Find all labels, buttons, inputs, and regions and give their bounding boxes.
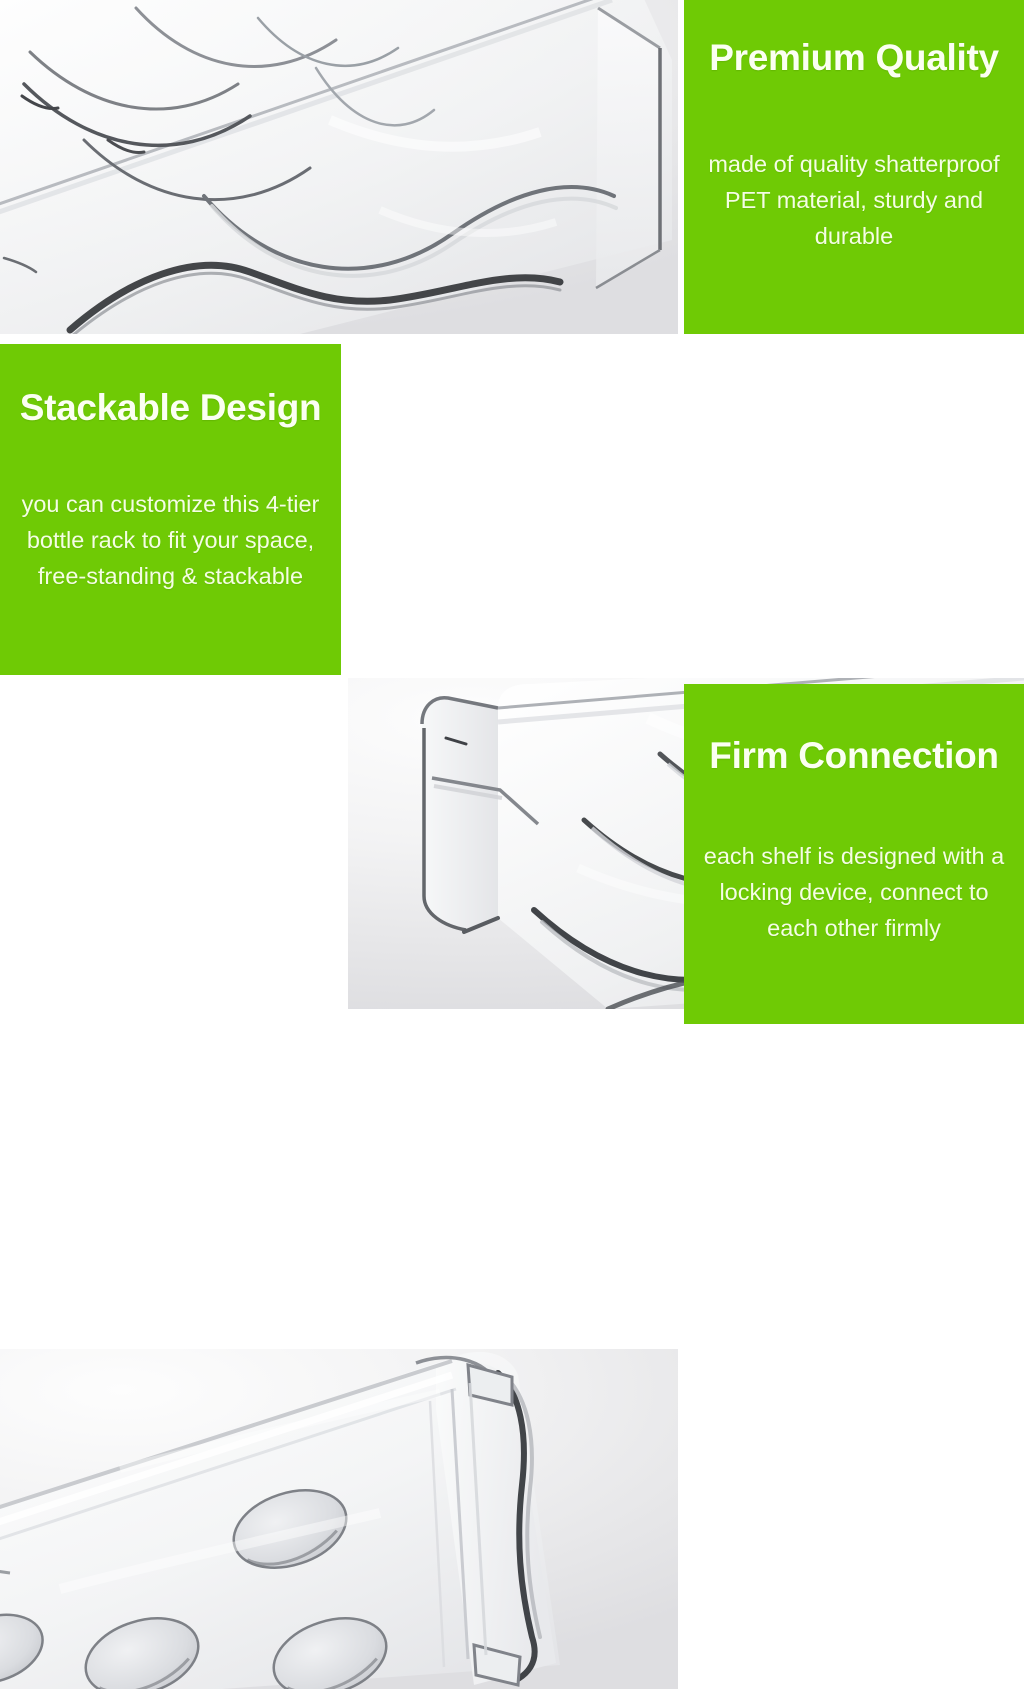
product-photo-bottle-rack-closeup — [0, 0, 678, 334]
panel-body-firm-connection: each shelf is designed with a locking de… — [684, 838, 1024, 946]
product-infographic: Premium Quality made of quality shatterp… — [0, 0, 1024, 1024]
panel-title-premium-quality: Premium Quality — [684, 36, 1024, 80]
panel-body-stackable-design: you can customize this 4-tier bottle rac… — [0, 486, 341, 594]
bottle-rack-illustration — [0, 0, 678, 334]
feature-panel-premium-quality: Premium Quality made of quality shatterp… — [684, 0, 1024, 334]
panel-title-stackable-design: Stackable Design — [0, 386, 341, 430]
product-photo-tray-locking-device — [0, 1349, 678, 1689]
feature-panel-firm-connection: Firm Connection each shelf is designed w… — [684, 684, 1024, 1024]
panel-body-premium-quality: made of quality shatterproof PET materia… — [684, 146, 1024, 254]
feature-panel-stackable-design: Stackable Design you can customize this … — [0, 344, 341, 675]
panel-title-firm-connection: Firm Connection — [684, 734, 1024, 778]
tray-locking-device-illustration — [0, 1349, 678, 1689]
